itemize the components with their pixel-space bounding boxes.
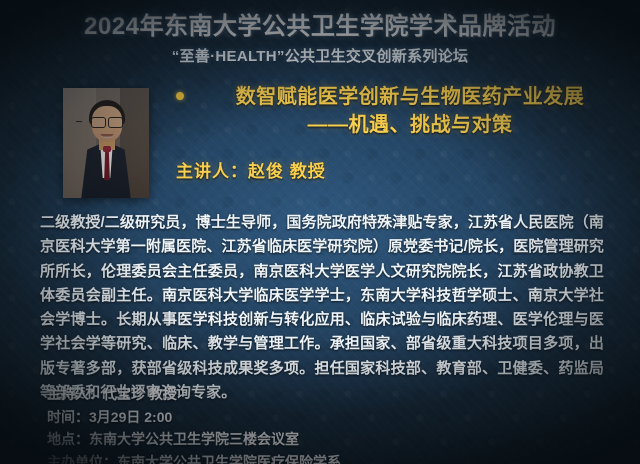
event-poster: 2024年东南大学公共卫生学院学术品牌活动 “至善·HEALTH”公共卫生交叉创… xyxy=(0,0,640,464)
poster-title-main: 2024年东南大学公共卫生学院学术品牌活动 xyxy=(0,14,640,41)
lecture-title-line1: 数智赋能医学创新与生物医药产业发展 xyxy=(236,86,585,108)
event-details: 主持人：代宝珍 教授 时间：3月29日 2:00 地点：东南大学公共卫生学院三楼… xyxy=(47,383,341,464)
glasses-icon xyxy=(91,117,123,126)
speaker-portrait-photo xyxy=(63,88,149,198)
speaker-name-label: 主讲人：赵俊 教授 xyxy=(176,157,326,182)
portrait-smile xyxy=(100,134,114,138)
bullet-dot-icon xyxy=(176,92,184,100)
event-time: 时间：3月29日 2:00 xyxy=(47,406,341,429)
event-organizer: 主办单位：东南大学公共卫生学院医疗保险学系 xyxy=(47,451,341,464)
poster-title-sub: “至善·HEALTH”公共卫生交叉创新系列论坛 xyxy=(0,45,640,66)
lecture-title-line2: ——机遇、挑战与对策 xyxy=(192,111,628,139)
glasses-bridge xyxy=(76,121,82,122)
portrait-necktie-knot xyxy=(103,146,111,152)
poster-content: 2024年东南大学公共卫生学院学术品牌活动 “至善·HEALTH”公共卫生交叉创… xyxy=(0,0,640,464)
lecture-title: 数智赋能医学创新与生物医药产业发展 ——机遇、挑战与对策 xyxy=(192,83,628,140)
poster-header: 2024年东南大学公共卫生学院学术品牌活动 “至善·HEALTH”公共卫生交叉创… xyxy=(0,14,640,66)
event-location: 地点：东南大学公共卫生学院三楼会议室 xyxy=(47,428,341,451)
event-host: 主持人：代宝珍 教授 xyxy=(47,383,341,406)
speaker-biography: 二级教授/二级研究员，博士生导师，国务院政府特殊津贴专家，江苏省人民医院（南京医… xyxy=(40,211,604,405)
